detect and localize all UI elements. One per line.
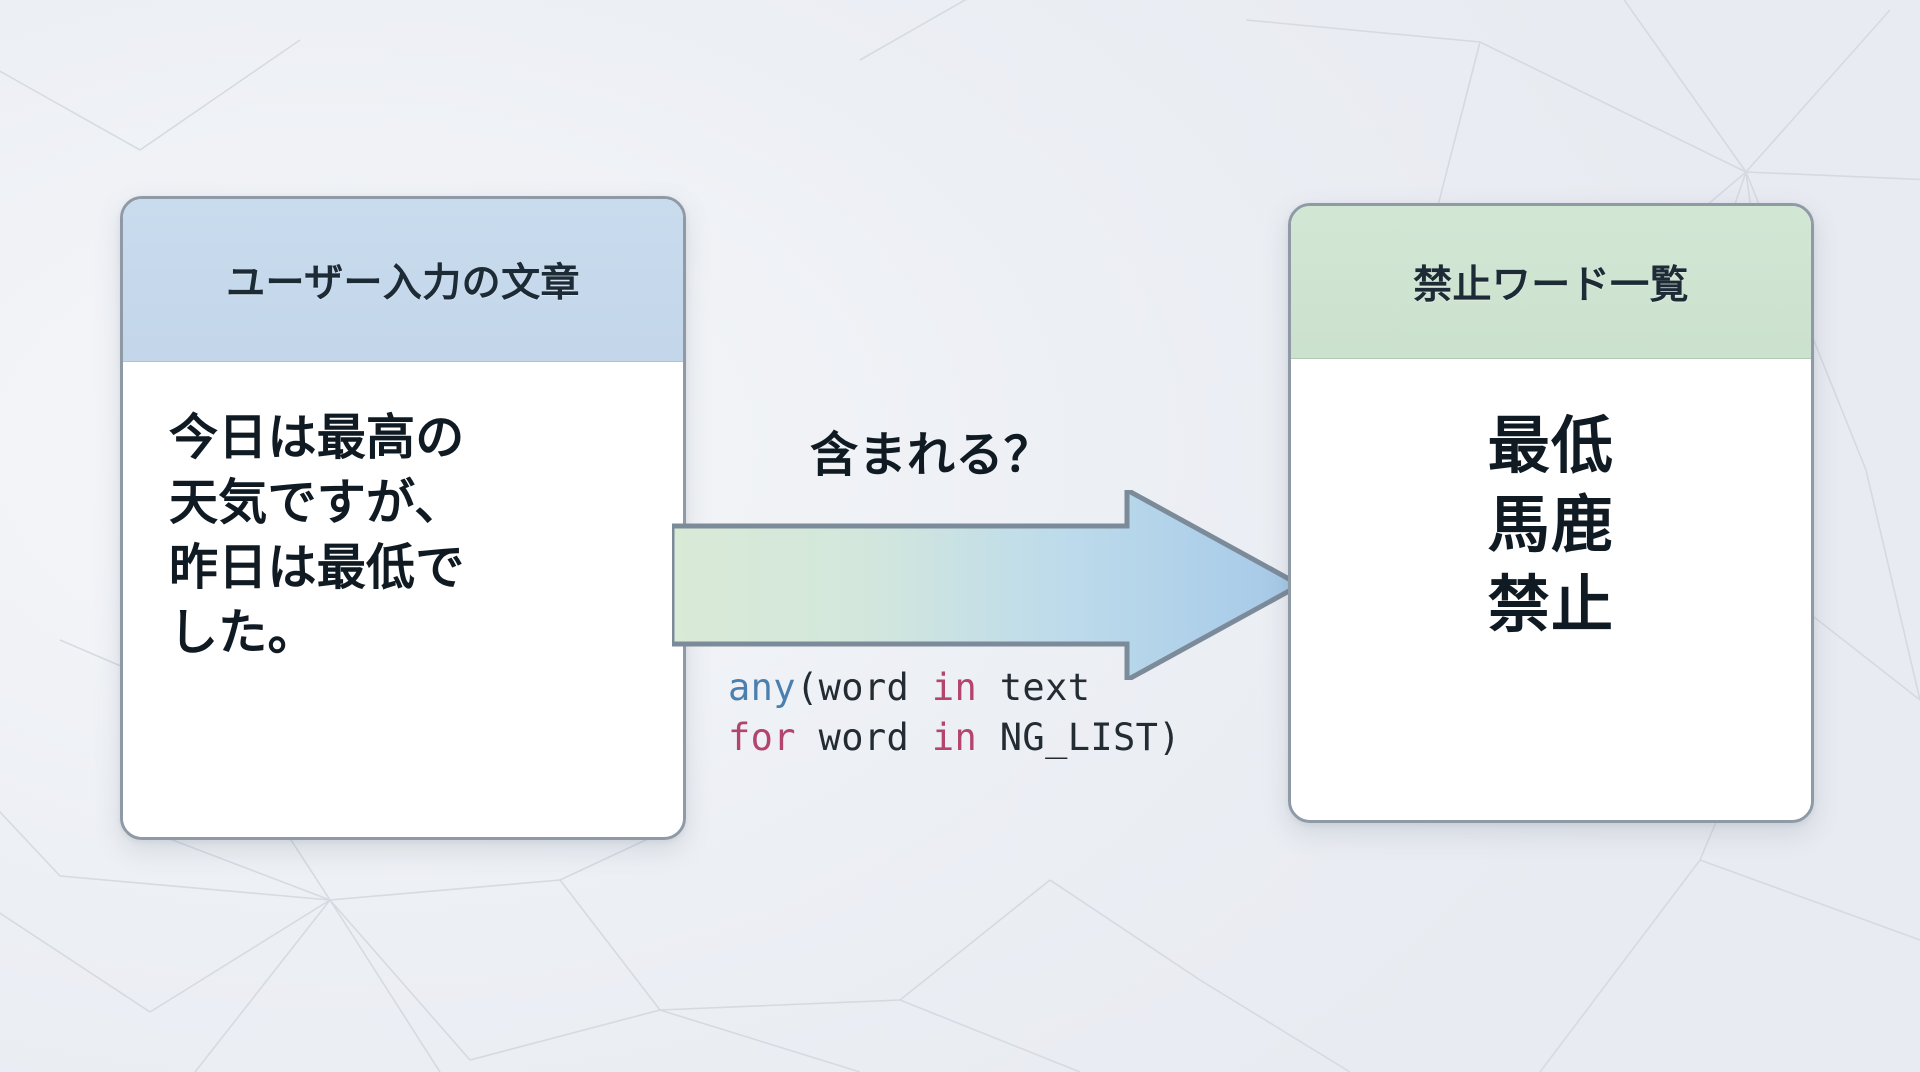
code-identifier-word: word (819, 666, 932, 709)
ng-word-list-card: 禁止ワード一覧 最低 馬鹿 禁止 (1288, 203, 1814, 823)
ng-word-item: 馬鹿 (1488, 486, 1614, 565)
diagram-canvas: ユーザー入力の文章 今日は最高の 天気ですが、 昨日は最低で した。 含まれる？… (0, 0, 1920, 1072)
user-input-card-title: ユーザー入力の文章 (123, 199, 683, 362)
code-identifier-word-2: word (796, 716, 932, 759)
user-input-card-body: 今日は最高の 天気ですが、 昨日は最低で した。 (123, 362, 683, 837)
sentence-line: 昨日は最低で (169, 536, 639, 601)
ng-word-list-card-title: 禁止ワード一覧 (1291, 206, 1811, 359)
code-keyword-for: for (728, 716, 796, 759)
sentence-line: 天気ですが、 (169, 471, 639, 536)
code-open-paren: ( (796, 666, 819, 709)
ng-word-item: 禁止 (1488, 566, 1614, 645)
ng-word-item: 最低 (1488, 407, 1614, 486)
ng-word-list-card-body: 最低 馬鹿 禁止 (1291, 359, 1811, 820)
code-function-any: any (728, 666, 796, 709)
code-keyword-in: in (932, 666, 977, 709)
sentence-line: 今日は最高の (169, 406, 639, 471)
code-identifier-text: text (977, 666, 1090, 709)
code-keyword-in-2: in (932, 716, 977, 759)
code-identifier-nglist: NG_LIST) (977, 716, 1181, 759)
code-snippet: any(word in text for word in NG_LIST) (728, 663, 1181, 762)
flow-arrow-icon (672, 490, 1304, 680)
arrow-question-label: 含まれる？ (810, 415, 1052, 485)
user-input-card: ユーザー入力の文章 今日は最高の 天気ですが、 昨日は最低で した。 (120, 196, 686, 840)
sentence-line: した。 (169, 601, 639, 666)
